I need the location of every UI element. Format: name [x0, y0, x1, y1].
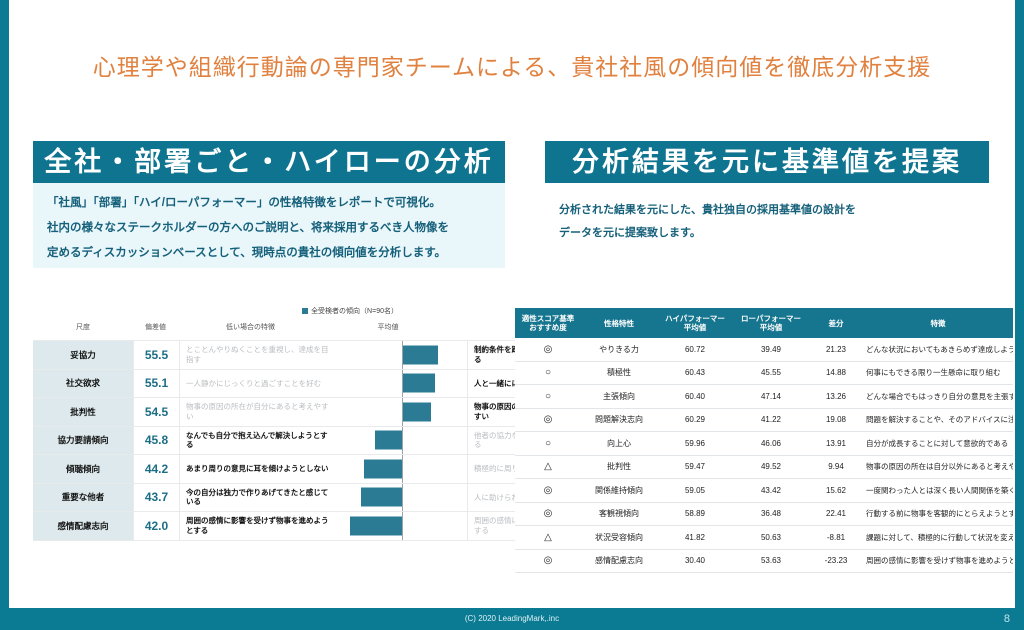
chart-zero-line	[402, 455, 403, 483]
criteria-header-high-l2: 平均値	[659, 323, 731, 332]
criteria-low-performer-avg: 50.63	[733, 526, 809, 550]
criteria-header-trait: 性格特性	[581, 308, 657, 338]
criteria-trait: 客観視傾向	[581, 502, 657, 526]
criteria-header-low-performer: ローパフォーマー 平均値	[733, 308, 809, 338]
criteria-feature: 物事の原因の所在は自分以外にあると考えやすい	[863, 455, 1013, 479]
chart-row-scale: 社交欲求	[33, 369, 134, 398]
criteria-header-diff-l1: 差分	[811, 319, 861, 328]
criteria-low-performer-avg: 46.06	[733, 432, 809, 456]
chart-bar-track	[337, 427, 467, 455]
table-row: ◎やりきる力60.7239.4921.23どんな状況においてもあきらめず達成しよ…	[515, 338, 1013, 361]
table-row: ◎客観視傾向58.8936.4822.41行動する前に物事を客観的にとらえようと…	[515, 502, 1013, 526]
chart-row-deviation: 45.8	[134, 426, 180, 455]
chart-row-scale: 協力要請傾向	[33, 426, 134, 455]
criteria-low-performer-avg: 49.52	[733, 455, 809, 479]
left-accent-rail	[0, 0, 9, 610]
right-accent-rail	[1015, 0, 1024, 610]
panel-left-line-3: 定めるディスカッションベースとして、現時点の貴社の傾向値を分析します。	[47, 247, 491, 259]
criteria-trait: 積極性	[581, 361, 657, 385]
criteria-high-performer-avg: 59.47	[657, 455, 733, 479]
panel-right-body: 分析された結果を元にした、貴社独自の採用基準値の設計を データを元に提案致します…	[545, 183, 989, 260]
criteria-difference: -8.81	[809, 526, 863, 550]
criteria-recommendation-mark: ◎	[515, 408, 581, 432]
criteria-header-trait-l1: 性格特性	[583, 319, 655, 328]
chart-header-average: 平均値	[323, 322, 453, 332]
criteria-high-performer-avg: 59.05	[657, 479, 733, 503]
chart-row-bar-cell	[337, 455, 468, 484]
criteria-difference: 9.94	[809, 455, 863, 479]
chart-row-scale: 感情配慮志向	[33, 512, 134, 541]
chart-row-deviation: 55.1	[134, 369, 180, 398]
criteria-high-performer-avg: 60.40	[657, 385, 733, 409]
chart-zero-line	[402, 427, 403, 455]
criteria-high-performer-avg: 30.40	[657, 549, 733, 573]
chart-zero-line	[402, 398, 403, 426]
page-title: 心理学や組織行動論の専門家チームによる、貴社社風の傾向値を徹底分析支援	[0, 48, 1024, 82]
chart-header-scale: 尺度	[33, 322, 133, 332]
criteria-trait: 感情配慮志向	[581, 549, 657, 573]
criteria-high-performer-avg: 60.29	[657, 408, 733, 432]
criteria-recommendation-mark: ○	[515, 361, 581, 385]
panel-right-line-2: データを元に提案致します。	[559, 228, 975, 240]
panel-right-title: 分析結果を元に基準値を提案	[545, 141, 989, 183]
panel-criteria-proposal: 分析結果を元に基準値を提案 分析された結果を元にした、貴社独自の採用基準値の設計…	[545, 141, 989, 260]
criteria-high-performer-avg: 60.43	[657, 361, 733, 385]
table-row: ◎感情配慮志向30.4053.63-23.23周囲の感情に影響を受けず物事を進め…	[515, 549, 1013, 573]
chart-row-deviation: 43.7	[134, 483, 180, 512]
chart-zero-line	[402, 341, 403, 369]
criteria-feature: 行動する前に物事を客観的にとらえようとする	[863, 502, 1013, 526]
chart-bar	[402, 345, 438, 364]
chart-row-bar-cell	[337, 512, 468, 541]
table-row: ○積極性60.4345.5514.88何事にもできる限り一生懸命に取り組む	[515, 361, 1013, 385]
chart-row-scale: 批判性	[33, 398, 134, 427]
chart-row-scale: 妥協力	[33, 341, 134, 370]
criteria-table: 適性スコア基準 おすすめ度 性格特性 ハイパフォーマー 平均値 ローパフォーマー…	[515, 308, 1013, 573]
criteria-recommendation-mark: ◎	[515, 338, 581, 361]
criteria-difference: 14.88	[809, 361, 863, 385]
criteria-header-row: 適性スコア基準 おすすめ度 性格特性 ハイパフォーマー 平均値 ローパフォーマー…	[515, 308, 1013, 338]
legend-label: 全受検者の傾向（N=90名）	[311, 308, 398, 315]
table-row: △状況受容傾向41.8250.63-8.81課題に対して、積極的に行動して状況を…	[515, 526, 1013, 550]
chart-bar-track	[337, 484, 467, 512]
legend-swatch-icon	[302, 308, 308, 314]
criteria-feature: 何事にもできる限り一生懸命に取り組む	[863, 361, 1013, 385]
criteria-header-feature: 特徴	[863, 308, 1013, 338]
criteria-feature: 一度関わった人とは深く長い人間関係を築く	[863, 479, 1013, 503]
criteria-header-recommendation-l2: おすすめ度	[517, 323, 579, 332]
panel-left-line-1: 「社風」「部署」「ハイ/ローパフォーマー」の性格特徴をレポートで可視化。	[47, 197, 491, 209]
chart-bar	[361, 488, 402, 507]
chart-row-bar-cell	[337, 398, 468, 427]
criteria-recommendation-mark: ○	[515, 385, 581, 409]
criteria-recommendation-mark: ◎	[515, 479, 581, 503]
criteria-low-performer-avg: 41.22	[733, 408, 809, 432]
criteria-low-performer-avg: 45.55	[733, 361, 809, 385]
criteria-feature: どんな場合でもはっきり自分の意見を主張する	[863, 385, 1013, 409]
table-row: ◎問題解決志向60.2941.2219.08問題を解決することや、そのアドバイス…	[515, 408, 1013, 432]
footer-bar: (C) 2020 LeadingMark,.inc 8	[0, 608, 1024, 630]
criteria-recommendation-mark: △	[515, 526, 581, 550]
criteria-low-performer-avg: 47.14	[733, 385, 809, 409]
table-row: ○主張傾向60.4047.1413.26どんな場合でもはっきり自分の意見を主張す…	[515, 385, 1013, 409]
chart-bar	[364, 459, 402, 478]
chart-bar	[375, 431, 402, 450]
table-row: ○向上心59.9646.0613.91自分が成長することに対して意欲的である	[515, 432, 1013, 456]
criteria-header-high-l1: ハイパフォーマー	[659, 314, 731, 323]
criteria-recommendation-mark: ○	[515, 432, 581, 456]
panel-left-title: 全社・部署ごと・ハイローの分析	[33, 141, 505, 183]
criteria-feature: 問題を解決することや、そのアドバイスに注力する	[863, 408, 1013, 432]
chart-row-deviation: 54.5	[134, 398, 180, 427]
criteria-header-low-l1: ローパフォーマー	[735, 314, 807, 323]
criteria-difference: 15.62	[809, 479, 863, 503]
panel-left-body: 「社風」「部署」「ハイ/ローパフォーマー」の性格特徴をレポートで可視化。 社内の…	[33, 183, 505, 268]
footer-page-number: 8	[1004, 608, 1010, 630]
chart-row-low-description: 周囲の感情に影響を受けず物事を進めようとする	[180, 512, 338, 541]
criteria-high-performer-avg: 60.72	[657, 338, 733, 361]
chart-row-bar-cell	[337, 369, 468, 398]
chart-row-bar-cell	[337, 341, 468, 370]
panel-department-analysis: 全社・部署ごと・ハイローの分析 「社風」「部署」「ハイ/ローパフォーマー」の性格…	[33, 141, 505, 268]
criteria-trait: 状況受容傾向	[581, 526, 657, 550]
criteria-header-recommendation-l1: 適性スコア基準	[517, 314, 579, 323]
chart-bar-track	[337, 398, 467, 426]
chart-bar-track	[337, 455, 467, 483]
chart-zero-line	[402, 512, 403, 540]
criteria-header-recommendation: 適性スコア基準 おすすめ度	[515, 308, 581, 338]
criteria-low-performer-avg: 43.42	[733, 479, 809, 503]
deviation-bar-chart: 全受検者の傾向（N=90名） 尺度 偏差値 低い場合の特徴 平均値 妥協力55.…	[33, 306, 503, 542]
chart-row-scale: 傾聴傾向	[33, 455, 134, 484]
criteria-low-performer-avg: 36.48	[733, 502, 809, 526]
chart-row-low-description: とことんやりぬくことを重視し、達成を目指す	[180, 341, 338, 370]
criteria-difference: 13.91	[809, 432, 863, 456]
footer-copyright: (C) 2020 LeadingMark,.inc	[0, 608, 1024, 630]
criteria-feature: 周囲の感情に影響を受けず物事を進めようとする	[863, 549, 1013, 573]
chart-row-deviation: 44.2	[134, 455, 180, 484]
criteria-header-feature-l1: 特徴	[865, 319, 1011, 328]
chart-row-low-description: なんでも自分で抱え込んで解決しようとする	[180, 426, 338, 455]
chart-row-low-description: 一人静かにじっくりと過ごすことを好む	[180, 369, 338, 398]
criteria-high-performer-avg: 59.96	[657, 432, 733, 456]
criteria-trait: 主張傾向	[581, 385, 657, 409]
criteria-trait: やりきる力	[581, 338, 657, 361]
chart-row-deviation: 42.0	[134, 512, 180, 541]
criteria-recommendation-mark: △	[515, 455, 581, 479]
chart-column-headers: 尺度 偏差値 低い場合の特徴 平均値	[33, 322, 503, 340]
chart-header-deviation: 偏差値	[133, 322, 178, 332]
chart-bar	[402, 374, 435, 393]
chart-bar-track	[337, 370, 467, 398]
criteria-recommendation-mark: ◎	[515, 549, 581, 573]
criteria-feature: 課題に対して、積極的に行動して状況を変えようとする	[863, 526, 1013, 550]
table-row: ◎関係維持傾向59.0543.4215.62一度関わった人とは深く長い人間関係を…	[515, 479, 1013, 503]
criteria-trait: 問題解決志向	[581, 408, 657, 432]
criteria-trait: 向上心	[581, 432, 657, 456]
chart-legend: 全受検者の傾向（N=90名）	[302, 306, 398, 316]
criteria-feature: 自分が成長することに対して意欲的である	[863, 432, 1013, 456]
criteria-high-performer-avg: 41.82	[657, 526, 733, 550]
panel-right-line-1: 分析された結果を元にした、貴社独自の採用基準値の設計を	[559, 205, 975, 217]
criteria-trait: 関係維持傾向	[581, 479, 657, 503]
criteria-low-performer-avg: 53.63	[733, 549, 809, 573]
slide: 心理学や組織行動論の専門家チームによる、貴社社風の傾向値を徹底分析支援 全社・部…	[0, 0, 1024, 630]
criteria-difference: 21.23	[809, 338, 863, 361]
criteria-difference: 22.41	[809, 502, 863, 526]
criteria-difference: -23.23	[809, 549, 863, 573]
chart-bar-track	[337, 512, 467, 540]
chart-header-low: 低い場合の特徴	[178, 322, 323, 332]
criteria-high-performer-avg: 58.89	[657, 502, 733, 526]
chart-zero-line	[402, 370, 403, 398]
chart-row-bar-cell	[337, 483, 468, 512]
panel-left-line-2: 社内の様々なステークホルダーの方へのご説明と、将来採用するべき人物像を	[47, 222, 491, 234]
criteria-table-head: 適性スコア基準 おすすめ度 性格特性 ハイパフォーマー 平均値 ローパフォーマー…	[515, 308, 1013, 338]
chart-bar	[350, 516, 402, 535]
criteria-recommendation-mark: ◎	[515, 502, 581, 526]
chart-bar-track	[337, 341, 467, 369]
criteria-low-performer-avg: 39.49	[733, 338, 809, 361]
criteria-header-diff: 差分	[809, 308, 863, 338]
criteria-header-low-l2: 平均値	[735, 323, 807, 332]
criteria-feature: どんな状況においてもあきらめず達成しようとする	[863, 338, 1013, 361]
table-row: △批判性59.4749.529.94物事の原因の所在は自分以外にあると考えやすい	[515, 455, 1013, 479]
chart-row-low-description: 物事の原因の所在が自分にあると考えやすい	[180, 398, 338, 427]
criteria-table-body: ◎やりきる力60.7239.4921.23どんな状況においてもあきらめず達成しよ…	[515, 338, 1013, 573]
chart-row-bar-cell	[337, 426, 468, 455]
chart-row-low-description: あまり周りの意見に耳を傾けようとしない	[180, 455, 338, 484]
criteria-trait: 批判性	[581, 455, 657, 479]
chart-bar	[402, 402, 431, 421]
criteria-header-high-performer: ハイパフォーマー 平均値	[657, 308, 733, 338]
chart-row-deviation: 55.5	[134, 341, 180, 370]
chart-row-scale: 重要な他者	[33, 483, 134, 512]
criteria-difference: 13.26	[809, 385, 863, 409]
chart-zero-line	[402, 484, 403, 512]
criteria-difference: 19.08	[809, 408, 863, 432]
chart-row-low-description: 今の自分は独力で作りあげてきたと感じている	[180, 483, 338, 512]
